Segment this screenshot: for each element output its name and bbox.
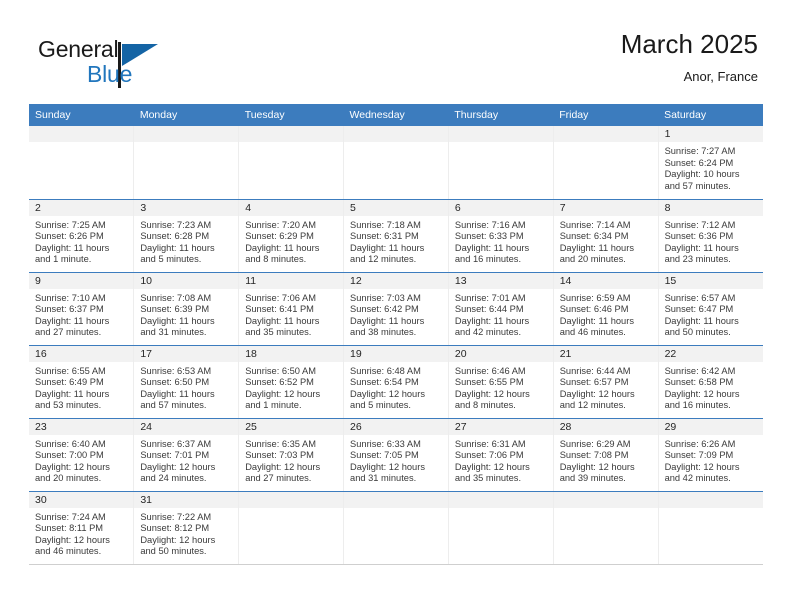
weekday-header-sunday: Sunday (29, 104, 134, 126)
day-number: 31 (134, 492, 238, 508)
sunset-text: Sunset: 6:26 PM (35, 231, 129, 243)
day-details: Sunrise: 6:50 AMSunset: 6:52 PMDaylight:… (239, 362, 343, 412)
sunrise-text: Sunrise: 7:27 AM (665, 146, 759, 158)
day-number: 19 (344, 346, 448, 362)
sunset-text: Sunset: 6:49 PM (35, 377, 129, 389)
daylight-text-line1: Daylight: 11 hours (35, 389, 129, 401)
day-number: 2 (29, 200, 133, 216)
day-details: Sunrise: 7:14 AMSunset: 6:34 PMDaylight:… (554, 216, 658, 266)
daylight-text-line1: Daylight: 12 hours (455, 462, 549, 474)
sunset-text: Sunset: 7:00 PM (35, 450, 129, 462)
calendar-day-cell[interactable]: 30Sunrise: 7:24 AMSunset: 8:11 PMDayligh… (29, 491, 134, 564)
sunset-text: Sunset: 6:36 PM (665, 231, 759, 243)
daylight-text-line1: Daylight: 11 hours (245, 243, 339, 255)
day-number: 10 (134, 273, 238, 289)
day-details: Sunrise: 7:18 AMSunset: 6:31 PMDaylight:… (344, 216, 448, 266)
day-details: Sunrise: 6:40 AMSunset: 7:00 PMDaylight:… (29, 435, 133, 485)
daylight-text-line1: Daylight: 12 hours (560, 462, 654, 474)
day-number: 9 (29, 273, 133, 289)
sunset-text: Sunset: 8:12 PM (140, 523, 234, 535)
sunset-text: Sunset: 6:55 PM (455, 377, 549, 389)
daylight-text-line2: and 12 minutes. (560, 400, 654, 412)
day-details: Sunrise: 7:12 AMSunset: 6:36 PMDaylight:… (659, 216, 763, 266)
daylight-text-line1: Daylight: 11 hours (35, 243, 129, 255)
calendar-day-cell[interactable]: 16Sunrise: 6:55 AMSunset: 6:49 PMDayligh… (29, 345, 134, 418)
calendar-cell-empty (344, 491, 449, 564)
sunrise-text: Sunrise: 6:46 AM (455, 366, 549, 378)
sunrise-text: Sunrise: 7:06 AM (245, 293, 339, 305)
daylight-text-line1: Daylight: 12 hours (35, 535, 129, 547)
day-details: Sunrise: 6:35 AMSunset: 7:03 PMDaylight:… (239, 435, 343, 485)
calendar-day-cell[interactable]: 11Sunrise: 7:06 AMSunset: 6:41 PMDayligh… (239, 272, 344, 345)
sunrise-text: Sunrise: 7:20 AM (245, 220, 339, 232)
day-details: Sunrise: 7:16 AMSunset: 6:33 PMDaylight:… (449, 216, 553, 266)
calendar-day-cell[interactable]: 10Sunrise: 7:08 AMSunset: 6:39 PMDayligh… (134, 272, 239, 345)
daylight-text-line2: and 46 minutes. (560, 327, 654, 339)
day-details: Sunrise: 7:20 AMSunset: 6:29 PMDaylight:… (239, 216, 343, 266)
sunset-text: Sunset: 6:37 PM (35, 304, 129, 316)
day-number (29, 126, 133, 142)
day-details: Sunrise: 6:33 AMSunset: 7:05 PMDaylight:… (344, 435, 448, 485)
day-details: Sunrise: 6:31 AMSunset: 7:06 PMDaylight:… (449, 435, 553, 485)
daylight-text-line2: and 39 minutes. (560, 473, 654, 485)
daylight-text-line1: Daylight: 11 hours (665, 316, 759, 328)
calendar-day-cell[interactable]: 24Sunrise: 6:37 AMSunset: 7:01 PMDayligh… (134, 418, 239, 491)
daylight-text-line1: Daylight: 12 hours (560, 389, 654, 401)
daylight-text-line1: Daylight: 12 hours (245, 389, 339, 401)
weekday-header-tuesday: Tuesday (239, 104, 344, 126)
day-details: Sunrise: 6:46 AMSunset: 6:55 PMDaylight:… (449, 362, 553, 412)
day-number: 6 (449, 200, 553, 216)
title-block: March 2025 Anor, France (621, 28, 758, 87)
day-number (239, 492, 343, 508)
day-number: 16 (29, 346, 133, 362)
sunrise-text: Sunrise: 6:44 AM (560, 366, 654, 378)
day-number: 1 (659, 126, 763, 142)
brand-name-blue: Blue (87, 61, 132, 88)
day-number: 20 (449, 346, 553, 362)
sunrise-text: Sunrise: 6:50 AM (245, 366, 339, 378)
calendar-day-cell[interactable]: 31Sunrise: 7:22 AMSunset: 8:12 PMDayligh… (134, 491, 239, 564)
daylight-text-line1: Daylight: 10 hours (665, 169, 759, 181)
calendar-day-cell[interactable]: 8Sunrise: 7:12 AMSunset: 6:36 PMDaylight… (658, 199, 763, 272)
day-number (449, 492, 553, 508)
calendar-day-cell[interactable]: 22Sunrise: 6:42 AMSunset: 6:58 PMDayligh… (658, 345, 763, 418)
sunset-text: Sunset: 6:54 PM (350, 377, 444, 389)
sunrise-text: Sunrise: 6:55 AM (35, 366, 129, 378)
daylight-text-line2: and 57 minutes. (665, 181, 759, 193)
calendar-day-cell[interactable]: 29Sunrise: 6:26 AMSunset: 7:09 PMDayligh… (658, 418, 763, 491)
brand-logo[interactable]: General Blue (38, 36, 238, 92)
calendar-week-row: 30Sunrise: 7:24 AMSunset: 8:11 PMDayligh… (29, 491, 763, 564)
daylight-text-line1: Daylight: 11 hours (35, 316, 129, 328)
day-details: Sunrise: 7:22 AMSunset: 8:12 PMDaylight:… (134, 508, 238, 558)
daylight-text-line1: Daylight: 11 hours (140, 316, 234, 328)
weekday-header-saturday: Saturday (658, 104, 763, 126)
day-details: Sunrise: 6:55 AMSunset: 6:49 PMDaylight:… (29, 362, 133, 412)
sunset-text: Sunset: 6:42 PM (350, 304, 444, 316)
weekday-header-monday: Monday (134, 104, 239, 126)
calendar-day-cell[interactable]: 28Sunrise: 6:29 AMSunset: 7:08 PMDayligh… (553, 418, 658, 491)
calendar-day-cell[interactable]: 26Sunrise: 6:33 AMSunset: 7:05 PMDayligh… (344, 418, 449, 491)
sunset-text: Sunset: 6:31 PM (350, 231, 444, 243)
day-number: 3 (134, 200, 238, 216)
daylight-text-line2: and 31 minutes. (350, 473, 444, 485)
day-number: 28 (554, 419, 658, 435)
day-number: 27 (449, 419, 553, 435)
day-number (554, 492, 658, 508)
calendar-day-cell[interactable]: 23Sunrise: 6:40 AMSunset: 7:00 PMDayligh… (29, 418, 134, 491)
calendar-day-cell[interactable]: 14Sunrise: 6:59 AMSunset: 6:46 PMDayligh… (553, 272, 658, 345)
calendar-day-cell[interactable]: 1Sunrise: 7:27 AMSunset: 6:24 PMDaylight… (658, 126, 763, 199)
day-details: Sunrise: 6:42 AMSunset: 6:58 PMDaylight:… (659, 362, 763, 412)
sunset-text: Sunset: 6:47 PM (665, 304, 759, 316)
calendar-day-cell[interactable]: 15Sunrise: 6:57 AMSunset: 6:47 PMDayligh… (658, 272, 763, 345)
daylight-text-line2: and 46 minutes. (35, 546, 129, 558)
day-number: 18 (239, 346, 343, 362)
calendar-day-cell[interactable]: 18Sunrise: 6:50 AMSunset: 6:52 PMDayligh… (239, 345, 344, 418)
calendar-body: 1Sunrise: 7:27 AMSunset: 6:24 PMDaylight… (29, 126, 763, 564)
sunrise-text: Sunrise: 7:24 AM (35, 512, 129, 524)
calendar-day-cell[interactable]: 3Sunrise: 7:23 AMSunset: 6:28 PMDaylight… (134, 199, 239, 272)
daylight-text-line1: Daylight: 12 hours (665, 462, 759, 474)
daylight-text-line2: and 8 minutes. (455, 400, 549, 412)
day-number (554, 126, 658, 142)
sunrise-text: Sunrise: 6:40 AM (35, 439, 129, 451)
sunrise-text: Sunrise: 6:59 AM (560, 293, 654, 305)
daylight-text-line1: Daylight: 12 hours (140, 462, 234, 474)
sunset-text: Sunset: 6:58 PM (665, 377, 759, 389)
sunrise-text: Sunrise: 6:37 AM (140, 439, 234, 451)
daylight-text-line1: Daylight: 11 hours (560, 316, 654, 328)
calendar-day-cell[interactable]: 6Sunrise: 7:16 AMSunset: 6:33 PMDaylight… (448, 199, 553, 272)
day-number: 26 (344, 419, 448, 435)
sunset-text: Sunset: 6:33 PM (455, 231, 549, 243)
sunset-text: Sunset: 6:24 PM (665, 158, 759, 170)
daylight-text-line1: Daylight: 12 hours (350, 462, 444, 474)
daylight-text-line1: Daylight: 11 hours (350, 243, 444, 255)
calendar-day-cell[interactable]: 13Sunrise: 7:01 AMSunset: 6:44 PMDayligh… (448, 272, 553, 345)
daylight-text-line2: and 16 minutes. (455, 254, 549, 266)
day-number: 29 (659, 419, 763, 435)
day-number: 17 (134, 346, 238, 362)
daylight-text-line2: and 27 minutes. (35, 327, 129, 339)
calendar-cell-empty (239, 491, 344, 564)
sunrise-text: Sunrise: 7:16 AM (455, 220, 549, 232)
weekday-header-thursday: Thursday (448, 104, 553, 126)
day-details: Sunrise: 6:48 AMSunset: 6:54 PMDaylight:… (344, 362, 448, 412)
day-number (659, 492, 763, 508)
calendar-cell-empty (448, 491, 553, 564)
daylight-text-line1: Daylight: 12 hours (245, 462, 339, 474)
day-details: Sunrise: 7:27 AMSunset: 6:24 PMDaylight:… (659, 142, 763, 192)
sunset-text: Sunset: 6:57 PM (560, 377, 654, 389)
sunset-text: Sunset: 7:01 PM (140, 450, 234, 462)
daylight-text-line2: and 23 minutes. (665, 254, 759, 266)
weekday-header-row: Sunday Monday Tuesday Wednesday Thursday… (29, 104, 763, 126)
day-number: 22 (659, 346, 763, 362)
daylight-text-line1: Daylight: 11 hours (455, 316, 549, 328)
sunset-text: Sunset: 6:28 PM (140, 231, 234, 243)
sunset-text: Sunset: 7:05 PM (350, 450, 444, 462)
sunrise-text: Sunrise: 7:03 AM (350, 293, 444, 305)
calendar-week-row: 2Sunrise: 7:25 AMSunset: 6:26 PMDaylight… (29, 199, 763, 272)
daylight-text-line2: and 5 minutes. (140, 254, 234, 266)
day-number (134, 126, 238, 142)
sunrise-text: Sunrise: 6:35 AM (245, 439, 339, 451)
calendar-day-cell[interactable]: 12Sunrise: 7:03 AMSunset: 6:42 PMDayligh… (344, 272, 449, 345)
daylight-text-line2: and 50 minutes. (665, 327, 759, 339)
daylight-text-line1: Daylight: 11 hours (350, 316, 444, 328)
sunset-text: Sunset: 6:29 PM (245, 231, 339, 243)
page-title: March 2025 (621, 28, 758, 60)
day-details: Sunrise: 6:59 AMSunset: 6:46 PMDaylight:… (554, 289, 658, 339)
sunrise-text: Sunrise: 6:31 AM (455, 439, 549, 451)
day-details: Sunrise: 6:57 AMSunset: 6:47 PMDaylight:… (659, 289, 763, 339)
day-details: Sunrise: 7:03 AMSunset: 6:42 PMDaylight:… (344, 289, 448, 339)
sunrise-text: Sunrise: 7:18 AM (350, 220, 444, 232)
daylight-text-line2: and 38 minutes. (350, 327, 444, 339)
daylight-text-line1: Daylight: 12 hours (350, 389, 444, 401)
calendar-cell-empty (344, 126, 449, 199)
day-details: Sunrise: 7:08 AMSunset: 6:39 PMDaylight:… (134, 289, 238, 339)
calendar-week-row: 9Sunrise: 7:10 AMSunset: 6:37 PMDaylight… (29, 272, 763, 345)
sunset-text: Sunset: 6:52 PM (245, 377, 339, 389)
brand-name-general: General (38, 36, 118, 63)
sunrise-text: Sunrise: 6:33 AM (350, 439, 444, 451)
daylight-text-line1: Daylight: 11 hours (140, 389, 234, 401)
day-number (449, 126, 553, 142)
day-number: 11 (239, 273, 343, 289)
calendar-day-cell[interactable]: 25Sunrise: 6:35 AMSunset: 7:03 PMDayligh… (239, 418, 344, 491)
calendar-cell-empty (239, 126, 344, 199)
sunset-text: Sunset: 7:03 PM (245, 450, 339, 462)
daylight-text-line2: and 16 minutes. (665, 400, 759, 412)
daylight-text-line2: and 53 minutes. (35, 400, 129, 412)
sunset-text: Sunset: 6:34 PM (560, 231, 654, 243)
day-number (344, 492, 448, 508)
day-number: 7 (554, 200, 658, 216)
day-number: 23 (29, 419, 133, 435)
calendar-day-cell[interactable]: 21Sunrise: 6:44 AMSunset: 6:57 PMDayligh… (553, 345, 658, 418)
sunrise-text: Sunrise: 7:25 AM (35, 220, 129, 232)
day-number: 21 (554, 346, 658, 362)
sunset-text: Sunset: 6:44 PM (455, 304, 549, 316)
weekday-header-friday: Friday (553, 104, 658, 126)
day-details: Sunrise: 7:01 AMSunset: 6:44 PMDaylight:… (449, 289, 553, 339)
sunset-text: Sunset: 6:41 PM (245, 304, 339, 316)
calendar-day-cell[interactable]: 27Sunrise: 6:31 AMSunset: 7:06 PMDayligh… (448, 418, 553, 491)
location-subtitle: Anor, France (621, 67, 758, 87)
daylight-text-line2: and 24 minutes. (140, 473, 234, 485)
day-number (239, 126, 343, 142)
page-header: General Blue March 2025 Anor, France (0, 0, 792, 104)
daylight-text-line1: Daylight: 11 hours (140, 243, 234, 255)
daylight-text-line2: and 35 minutes. (245, 327, 339, 339)
calendar-week-row: 16Sunrise: 6:55 AMSunset: 6:49 PMDayligh… (29, 345, 763, 418)
daylight-text-line1: Daylight: 11 hours (245, 316, 339, 328)
day-details: Sunrise: 7:06 AMSunset: 6:41 PMDaylight:… (239, 289, 343, 339)
sunrise-text: Sunrise: 7:12 AM (665, 220, 759, 232)
calendar-page: General Blue March 2025 Anor, France Sun… (0, 0, 792, 612)
day-number: 5 (344, 200, 448, 216)
daylight-text-line2: and 50 minutes. (140, 546, 234, 558)
daylight-text-line2: and 20 minutes. (560, 254, 654, 266)
calendar-cell-empty (553, 491, 658, 564)
daylight-text-line2: and 5 minutes. (350, 400, 444, 412)
day-number: 30 (29, 492, 133, 508)
daylight-text-line2: and 12 minutes. (350, 254, 444, 266)
calendar-week-row: 1Sunrise: 7:27 AMSunset: 6:24 PMDaylight… (29, 126, 763, 199)
daylight-text-line2: and 1 minute. (35, 254, 129, 266)
sunrise-text: Sunrise: 6:57 AM (665, 293, 759, 305)
day-number: 8 (659, 200, 763, 216)
daylight-text-line2: and 8 minutes. (245, 254, 339, 266)
sunset-text: Sunset: 7:09 PM (665, 450, 759, 462)
day-number: 25 (239, 419, 343, 435)
sunset-text: Sunset: 7:06 PM (455, 450, 549, 462)
day-details: Sunrise: 7:23 AMSunset: 6:28 PMDaylight:… (134, 216, 238, 266)
daylight-text-line1: Daylight: 12 hours (35, 462, 129, 474)
day-number (344, 126, 448, 142)
daylight-text-line1: Daylight: 12 hours (665, 389, 759, 401)
day-number: 4 (239, 200, 343, 216)
calendar-grid: Sunday Monday Tuesday Wednesday Thursday… (29, 104, 763, 565)
daylight-text-line2: and 1 minute. (245, 400, 339, 412)
daylight-text-line1: Daylight: 11 hours (560, 243, 654, 255)
sunrise-text: Sunrise: 6:48 AM (350, 366, 444, 378)
day-details: Sunrise: 6:44 AMSunset: 6:57 PMDaylight:… (554, 362, 658, 412)
day-details: Sunrise: 7:10 AMSunset: 6:37 PMDaylight:… (29, 289, 133, 339)
daylight-text-line1: Daylight: 12 hours (455, 389, 549, 401)
sunrise-text: Sunrise: 7:10 AM (35, 293, 129, 305)
sunrise-text: Sunrise: 7:23 AM (140, 220, 234, 232)
sunset-text: Sunset: 8:11 PM (35, 523, 129, 535)
day-details: Sunrise: 7:25 AMSunset: 6:26 PMDaylight:… (29, 216, 133, 266)
sunrise-text: Sunrise: 7:01 AM (455, 293, 549, 305)
calendar-day-cell[interactable]: 5Sunrise: 7:18 AMSunset: 6:31 PMDaylight… (344, 199, 449, 272)
calendar-week-row: 23Sunrise: 6:40 AMSunset: 7:00 PMDayligh… (29, 418, 763, 491)
daylight-text-line2: and 42 minutes. (665, 473, 759, 485)
sunrise-text: Sunrise: 6:29 AM (560, 439, 654, 451)
day-details: Sunrise: 6:53 AMSunset: 6:50 PMDaylight:… (134, 362, 238, 412)
calendar-day-cell[interactable]: 19Sunrise: 6:48 AMSunset: 6:54 PMDayligh… (344, 345, 449, 418)
sunset-text: Sunset: 6:46 PM (560, 304, 654, 316)
sunrise-text: Sunrise: 7:14 AM (560, 220, 654, 232)
weekday-header-wednesday: Wednesday (344, 104, 449, 126)
calendar-day-cell[interactable]: 9Sunrise: 7:10 AMSunset: 6:37 PMDaylight… (29, 272, 134, 345)
day-details: Sunrise: 7:24 AMSunset: 8:11 PMDaylight:… (29, 508, 133, 558)
sunrise-text: Sunrise: 6:42 AM (665, 366, 759, 378)
calendar-day-cell[interactable]: 17Sunrise: 6:53 AMSunset: 6:50 PMDayligh… (134, 345, 239, 418)
day-details: Sunrise: 6:37 AMSunset: 7:01 PMDaylight:… (134, 435, 238, 485)
calendar-cell-empty (553, 126, 658, 199)
daylight-text-line2: and 57 minutes. (140, 400, 234, 412)
day-number: 24 (134, 419, 238, 435)
sunrise-text: Sunrise: 7:22 AM (140, 512, 234, 524)
calendar-day-cell[interactable]: 2Sunrise: 7:25 AMSunset: 6:26 PMDaylight… (29, 199, 134, 272)
day-number: 14 (554, 273, 658, 289)
calendar-cell-empty (658, 491, 763, 564)
daylight-text-line1: Daylight: 11 hours (455, 243, 549, 255)
calendar-cell-empty (448, 126, 553, 199)
calendar-cell-empty (134, 126, 239, 199)
daylight-text-line1: Daylight: 11 hours (665, 243, 759, 255)
calendar-cell-empty (29, 126, 134, 199)
sunset-text: Sunset: 6:39 PM (140, 304, 234, 316)
day-details: Sunrise: 6:26 AMSunset: 7:09 PMDaylight:… (659, 435, 763, 485)
sunrise-text: Sunrise: 7:08 AM (140, 293, 234, 305)
day-number: 15 (659, 273, 763, 289)
sunrise-text: Sunrise: 6:26 AM (665, 439, 759, 451)
sunset-text: Sunset: 6:50 PM (140, 377, 234, 389)
day-details: Sunrise: 6:29 AMSunset: 7:08 PMDaylight:… (554, 435, 658, 485)
day-number: 13 (449, 273, 553, 289)
calendar-day-cell[interactable]: 20Sunrise: 6:46 AMSunset: 6:55 PMDayligh… (448, 345, 553, 418)
daylight-text-line2: and 35 minutes. (455, 473, 549, 485)
daylight-text-line2: and 20 minutes. (35, 473, 129, 485)
daylight-text-line2: and 42 minutes. (455, 327, 549, 339)
daylight-text-line2: and 27 minutes. (245, 473, 339, 485)
sunset-text: Sunset: 7:08 PM (560, 450, 654, 462)
calendar-day-cell[interactable]: 4Sunrise: 7:20 AMSunset: 6:29 PMDaylight… (239, 199, 344, 272)
daylight-text-line1: Daylight: 12 hours (140, 535, 234, 547)
daylight-text-line2: and 31 minutes. (140, 327, 234, 339)
calendar-day-cell[interactable]: 7Sunrise: 7:14 AMSunset: 6:34 PMDaylight… (553, 199, 658, 272)
sunrise-text: Sunrise: 6:53 AM (140, 366, 234, 378)
day-number: 12 (344, 273, 448, 289)
